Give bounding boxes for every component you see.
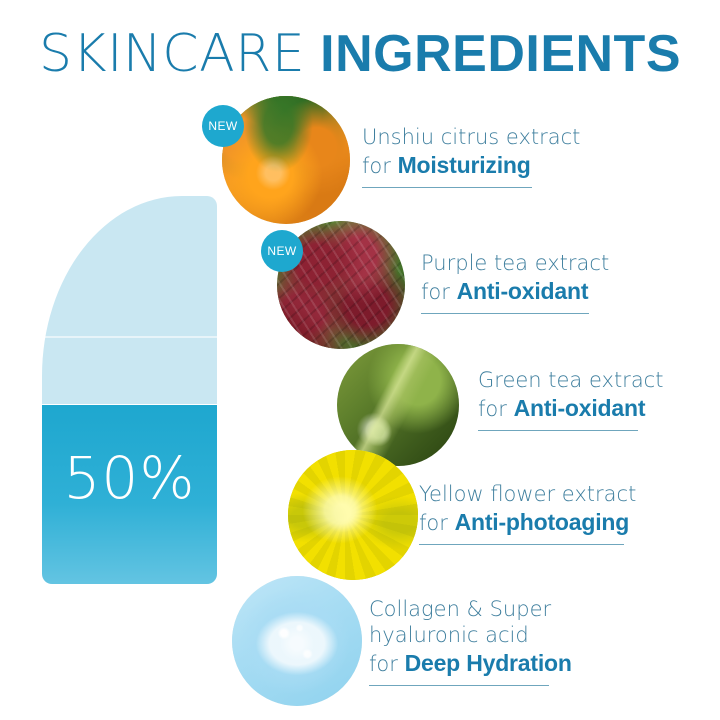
for-prefix: for xyxy=(369,652,398,676)
thumbnail-green-tea xyxy=(337,344,459,466)
ingredient-name-unshiu-citrus: Unshiu citrus extract xyxy=(362,124,577,150)
skincare-ingredients-poster: SKINCARE INGREDIENTS 50% NEW Unshiu citr… xyxy=(0,0,720,720)
ingredient-benefit-line-green-tea: for Anti-oxidant xyxy=(478,393,693,424)
ingredient-benefit-line-collagen: for Deep Hydration xyxy=(369,648,589,679)
benefit-anti-oxidant: Anti-oxidant xyxy=(457,278,589,304)
for-prefix: for xyxy=(419,511,448,535)
ingredient-benefit-line-purple-tea: for Anti-oxidant xyxy=(421,276,636,307)
caption-underline xyxy=(478,430,638,431)
bottle-seam-line xyxy=(42,336,217,338)
badge-new-purple-tea: NEW xyxy=(261,230,303,272)
blue-gel-droplet-photo xyxy=(232,576,362,706)
page-title: SKINCARE INGREDIENTS xyxy=(0,24,720,84)
badge-new-label: NEW xyxy=(208,119,237,133)
bottle-upper-section xyxy=(42,196,217,404)
badge-new-label: NEW xyxy=(267,244,296,258)
benefit-anti-photoaging: Anti-photoaging xyxy=(455,509,630,535)
caption-unshiu-citrus: Unshiu citrus extract for Moisturizing xyxy=(362,124,577,188)
for-prefix: for xyxy=(362,154,391,178)
caption-collagen-hyaluronic: Collagen & Super hyaluronic acid for Dee… xyxy=(369,596,589,686)
for-prefix: for xyxy=(421,280,450,304)
title-light-part: SKINCARE xyxy=(39,24,305,84)
benefit-deep-hydration: Deep Hydration xyxy=(405,650,572,676)
caption-underline xyxy=(369,685,549,686)
benefit-moisturizing: Moisturizing xyxy=(398,152,531,178)
caption-purple-tea: Purple tea extract for Anti-oxidant xyxy=(421,250,636,314)
bottle-percent-label: 50% xyxy=(42,444,217,512)
ingredient-name-green-tea: Green tea extract xyxy=(478,367,693,393)
ingredient-name-collagen-line1: Collagen & Super xyxy=(369,596,589,622)
green-leaf-droplet-photo xyxy=(337,344,459,466)
caption-underline xyxy=(419,544,624,545)
ingredient-name-purple-tea: Purple tea extract xyxy=(421,250,636,276)
yellow-flower-photo xyxy=(288,450,418,580)
for-prefix: for xyxy=(478,397,507,421)
badge-new-unshiu-citrus: NEW xyxy=(202,105,244,147)
caption-underline xyxy=(362,187,532,188)
caption-yellow-flower: Yellow flower extract for Anti-photoagin… xyxy=(419,481,649,545)
ingredient-benefit-line-yellow-flower: for Anti-photoaging xyxy=(419,507,649,538)
thumbnail-collagen-gel xyxy=(232,576,362,706)
ingredient-benefit-line-unshiu-citrus: for Moisturizing xyxy=(362,150,577,181)
ingredient-name-yellow-flower: Yellow flower extract xyxy=(419,481,649,507)
thumbnail-yellow-flower xyxy=(288,450,418,580)
title-bold-part: INGREDIENTS xyxy=(320,25,681,83)
benefit-anti-oxidant: Anti-oxidant xyxy=(514,395,646,421)
ingredient-name-collagen-line2: hyaluronic acid xyxy=(369,622,589,648)
ingredient-content-bottle: 50% xyxy=(42,196,217,584)
caption-underline xyxy=(421,313,589,314)
caption-green-tea: Green tea extract for Anti-oxidant xyxy=(478,367,693,431)
